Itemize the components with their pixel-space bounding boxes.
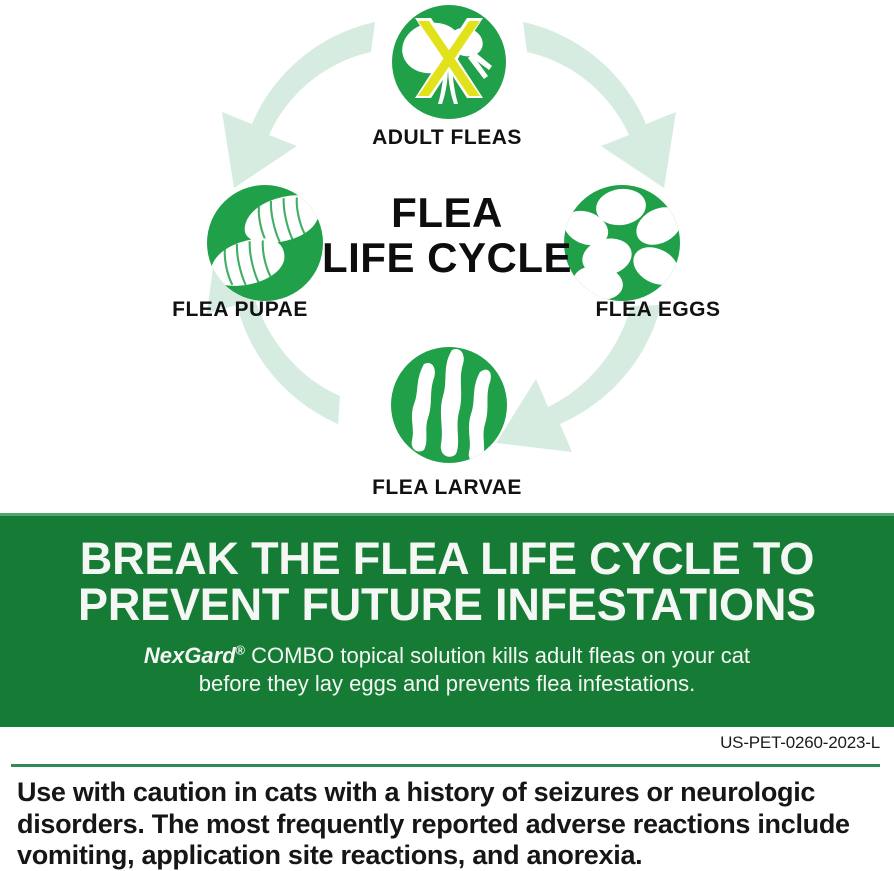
- product-code-row: US-PET-0260-2023-L: [0, 733, 894, 761]
- subhead-line-2: before they lay eggs and prevents flea i…: [40, 670, 854, 699]
- arrow-pupae-to-adult: [222, 22, 375, 188]
- banner-subhead: NexGard® COMBO topical solution kills ad…: [0, 628, 894, 699]
- node-adult-fleas: [392, 5, 506, 119]
- center-title-line-1: FLEA: [297, 190, 597, 235]
- registered-mark: ®: [236, 642, 245, 657]
- arrow-adult-to-eggs: [523, 22, 676, 188]
- node-label-flea-larvae: FLEA LARVAE: [0, 476, 894, 500]
- node-label-adult-fleas: ADULT FLEAS: [0, 126, 894, 150]
- headline-line-2: PREVENT FUTURE INFESTATIONS: [14, 582, 880, 628]
- flea-life-cycle-diagram: ADULT FLEAS FLEA EGGS FLEA LARVAE FLEA P…: [0, 0, 894, 513]
- banner-headline: BREAK THE FLEA LIFE CYCLE TO PREVENT FUT…: [0, 516, 894, 628]
- node-label-flea-pupae: FLEA PUPAE: [110, 298, 370, 322]
- node-label-flea-eggs: FLEA EGGS: [528, 298, 788, 322]
- subhead-line-1-rest: COMBO topical solution kills adult fleas…: [245, 643, 750, 668]
- headline-line-1: BREAK THE FLEA LIFE CYCLE TO: [14, 536, 880, 582]
- green-banner: BREAK THE FLEA LIFE CYCLE TO PREVENT FUT…: [0, 513, 894, 727]
- node-flea-larvae: [391, 347, 507, 463]
- diagram-center-title: FLEA LIFE CYCLE: [297, 190, 597, 281]
- arrow-eggs-to-larvae: [496, 305, 661, 452]
- product-code: US-PET-0260-2023-L: [720, 733, 880, 753]
- disclaimer-text: Use with caution in cats with a history …: [17, 777, 869, 871]
- infographic-page: ADULT FLEAS FLEA EGGS FLEA LARVAE FLEA P…: [0, 0, 894, 871]
- center-title-line-2: LIFE CYCLE: [297, 235, 597, 280]
- subhead-line-1: NexGard® COMBO topical solution kills ad…: [40, 642, 854, 671]
- horizontal-divider: [11, 764, 880, 767]
- brand-name: NexGard: [144, 643, 236, 668]
